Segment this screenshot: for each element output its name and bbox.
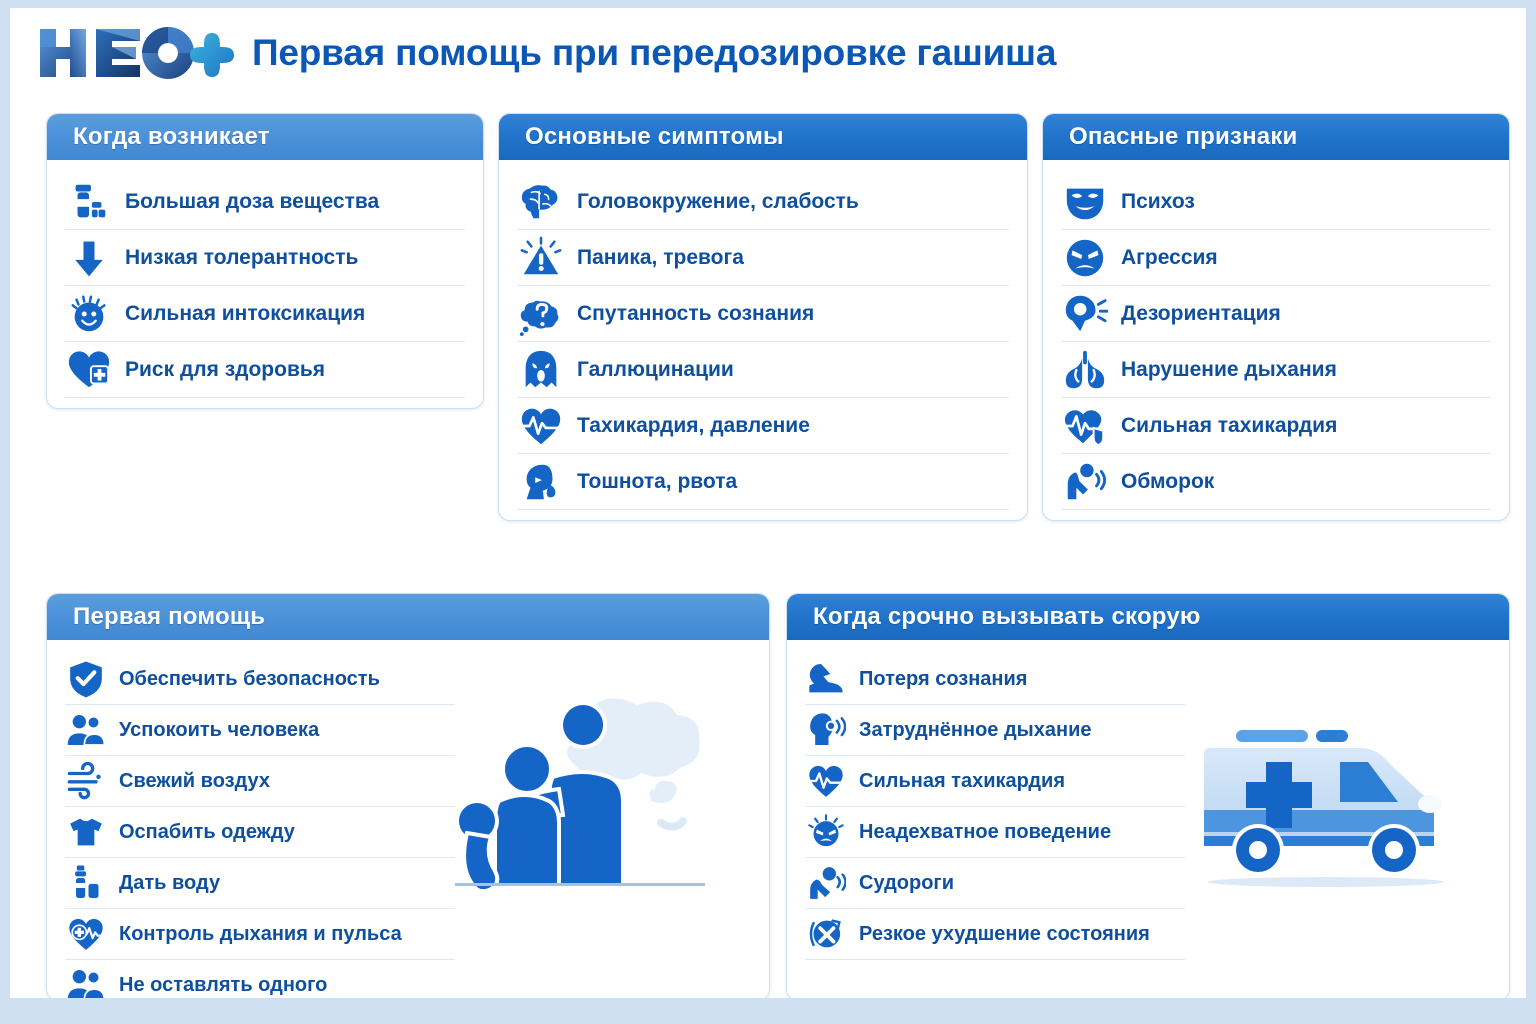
card-symptoms-body: Головокружение, слабость Паника, тревога — [499, 160, 1027, 520]
list-item-label: Тахикардия, давление — [577, 414, 810, 437]
list-item[interactable]: Нарушение дыхания — [1061, 342, 1491, 398]
list-item-label: Сильная интоксикация — [125, 302, 365, 325]
list-item-label: Сильная тахикардия — [859, 770, 1065, 792]
card-firstaid-body: Обеспечить безопасность Успокоить челове… — [47, 640, 769, 998]
card-when-title: Когда возникает — [73, 123, 270, 151]
card-danger-header: Опасные признаки — [1043, 114, 1509, 160]
list-item-label: Дезориентация — [1121, 302, 1281, 325]
card-symptoms-title: Основные симптомы — [525, 123, 784, 151]
list-item[interactable]: Не оставлять одного — [65, 960, 455, 998]
warning-triangle-icon — [517, 234, 565, 282]
two-people-icon — [65, 964, 107, 998]
card-emergency-header: Когда срочно вызывать скорую — [787, 594, 1509, 640]
neo-plus-logo — [36, 23, 234, 83]
list-item[interactable]: Оспабить одежду — [65, 807, 455, 858]
list-item[interactable]: Агрессия — [1061, 230, 1491, 286]
list-item[interactable]: Успокоить человека — [65, 705, 455, 756]
water-bottle-icon — [65, 862, 107, 904]
card-when-header: Когда возникает — [47, 114, 483, 160]
ambulance-illustration — [1185, 654, 1491, 960]
list-item-label: Дать воду — [119, 872, 220, 894]
ghost-icon — [517, 346, 565, 394]
thought-question-icon — [517, 290, 565, 338]
list-item-label: Потеря сознания — [859, 668, 1027, 690]
list-item[interactable]: Контроль дыхания и пульса — [65, 909, 455, 960]
fainting-person-icon — [1061, 458, 1109, 506]
list-item-label: Не оставлять одного — [119, 974, 327, 996]
card-danger-title: Опасные признаки — [1069, 123, 1298, 151]
list-item-label: Низкая толерантность — [125, 246, 358, 269]
list-item-label: Неадехватное поведение — [859, 821, 1111, 843]
list-item-label: Резкое ухудшение состояния — [859, 923, 1150, 945]
tshirt-icon — [65, 811, 107, 853]
breathing-head-icon — [805, 709, 847, 751]
list-item-label: Психоз — [1121, 190, 1195, 213]
card-when-body: Большая доза вещества Низкая толерантнос… — [47, 160, 483, 408]
firstaid-list: Обеспечить безопасность Успокоить челове… — [65, 654, 455, 998]
list-item-label: Оспабить одежду — [119, 821, 295, 843]
list-item[interactable]: Неадехватное поведение — [805, 807, 1185, 858]
list-item[interactable]: Спутанность сознания — [517, 286, 1009, 342]
list-item[interactable]: Затруднённое дыхание — [805, 705, 1185, 756]
angry-face-alarm-icon — [805, 811, 847, 853]
list-item[interactable]: Обморок — [1061, 454, 1491, 510]
list-item-label: Обеспечить безопасность — [119, 668, 380, 690]
card-symptoms-header: Основные симптомы — [499, 114, 1027, 160]
list-item[interactable]: Низкая толерантность — [65, 230, 465, 286]
card-emergency-body: Потеря сознания Затруднённое дыхание — [787, 640, 1509, 970]
list-item-label: Нарушение дыхания — [1121, 358, 1337, 381]
list-item-label: Судороги — [859, 872, 954, 894]
pill-bottle-icon — [65, 178, 113, 226]
list-item[interactable]: Психоз — [1061, 174, 1491, 230]
card-danger-signs: Опасные признаки Психоз — [1042, 113, 1510, 521]
list-item[interactable]: Паника, тревога — [517, 230, 1009, 286]
list-item-label: Тошнота, рвота — [577, 470, 737, 493]
list-item[interactable]: Сильная интоксикация — [65, 286, 465, 342]
list-item[interactable]: Сильная тахикардия — [1061, 398, 1491, 454]
unconscious-person-icon — [805, 658, 847, 700]
card-when-it-occurs: Когда возникает Большая доза вещества — [46, 113, 484, 409]
list-item-label: Галлюцинации — [577, 358, 734, 381]
list-item-label: Свежий воздух — [119, 770, 270, 792]
list-item-label: Сильная тахикардия — [1121, 414, 1337, 437]
page-title: Первая помощь при передозировке гашиша — [252, 32, 1056, 74]
list-item[interactable]: Дезориентация — [1061, 286, 1491, 342]
list-item[interactable]: Галлюцинации — [517, 342, 1009, 398]
card-firstaid-title: Первая помощь — [73, 603, 265, 631]
card-danger-body: Психоз Агрессия — [1043, 160, 1509, 520]
shield-check-icon — [65, 658, 107, 700]
heart-pulse-icon — [517, 402, 565, 450]
list-item[interactable]: Большая доза вещества — [65, 174, 465, 230]
seizure-person-icon — [805, 862, 847, 904]
list-item[interactable]: Тошнота, рвота — [517, 454, 1009, 510]
list-item[interactable]: Дать воду — [65, 858, 455, 909]
card-first-aid: Первая помощь Обеспечить безопасность — [46, 593, 770, 998]
card-emergency-title: Когда срочно вызывать скорую — [813, 603, 1201, 631]
list-item-label: Паника, тревога — [577, 246, 744, 269]
lungs-icon — [1061, 346, 1109, 394]
list-item-label: Большая доза вещества — [125, 190, 379, 213]
infographic-canvas: Первая помощь при передозировке гашиша К… — [10, 8, 1526, 998]
sharp-decline-icon — [805, 913, 847, 955]
angry-face-icon — [1061, 234, 1109, 282]
card-call-ambulance: Когда срочно вызывать скорую Потеря созн… — [786, 593, 1510, 998]
vomiting-head-icon — [517, 458, 565, 506]
dizzy-face-icon — [65, 290, 113, 338]
card-firstaid-header: Первая помощь — [47, 594, 769, 640]
list-item[interactable]: Тахикардия, давление — [517, 398, 1009, 454]
list-item[interactable]: Риск для здоровья — [65, 342, 465, 398]
list-item-label: Затруднённое дыхание — [859, 719, 1092, 741]
list-item[interactable]: Обеспечить безопасность — [65, 654, 455, 705]
list-item[interactable]: Резкое ухудшение состояния — [805, 909, 1185, 960]
list-item-label: Агрессия — [1121, 246, 1218, 269]
evil-mask-icon — [1061, 178, 1109, 226]
heart-pulse-icon — [805, 760, 847, 802]
page-frame: Первая помощь при передозировке гашиша К… — [0, 0, 1536, 1024]
emergency-list: Потеря сознания Затруднённое дыхание — [805, 654, 1185, 960]
list-item-label: Успокоить человека — [119, 719, 319, 741]
brain-icon — [517, 178, 565, 226]
two-people-icon — [65, 709, 107, 751]
list-item[interactable]: Свежий воздух — [65, 756, 455, 807]
two-people-comforting-illustration — [455, 654, 755, 998]
page-header: Первая помощь при передозировке гашиша — [36, 16, 1056, 90]
wind-icon — [65, 760, 107, 802]
heart-pulse-shield-icon — [1061, 402, 1109, 450]
head-location-icon — [1061, 290, 1109, 338]
list-item-label: Контроль дыхания и пульса — [119, 923, 402, 945]
list-item[interactable]: Головокружение, слабость — [517, 174, 1009, 230]
heart-cross-icon — [65, 346, 113, 394]
list-item-label: Спутанность сознания — [577, 302, 814, 325]
down-arrow-icon — [65, 234, 113, 282]
list-item[interactable]: Потеря сознания — [805, 654, 1185, 705]
heart-cross-pulse-icon — [65, 913, 107, 955]
list-item[interactable]: Сильная тахикардия — [805, 756, 1185, 807]
list-item[interactable]: Судороги — [805, 858, 1185, 909]
list-item-label: Риск для здоровья — [125, 358, 325, 381]
list-item-label: Обморок — [1121, 470, 1214, 493]
list-item-label: Головокружение, слабость — [577, 190, 859, 213]
card-main-symptoms: Основные симптомы Головокружение, слабос… — [498, 113, 1028, 521]
